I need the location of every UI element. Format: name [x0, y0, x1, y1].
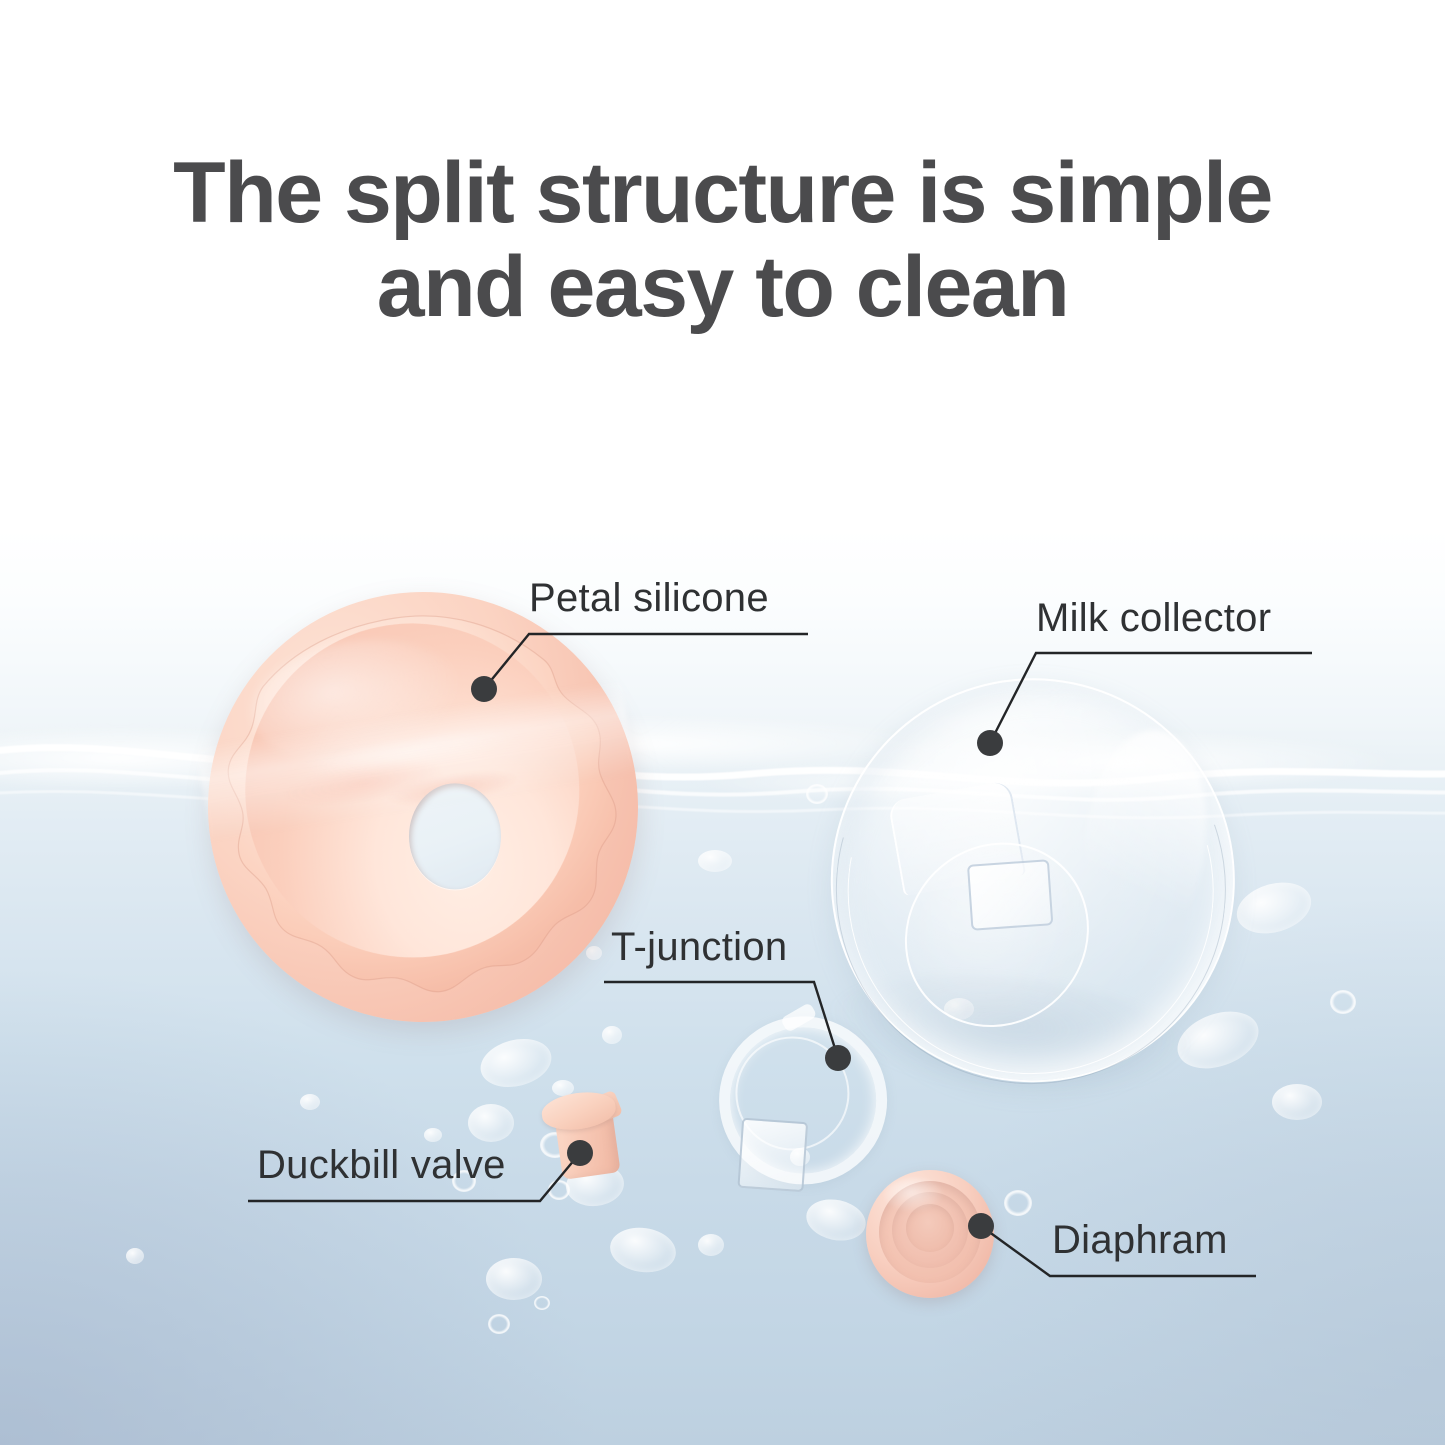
diaphram-leader: [0, 0, 1445, 1445]
callout-diaphram: Diaphram: [0, 0, 1445, 1445]
diaphram-dot: [968, 1213, 994, 1239]
infographic-canvas: The split structure is simple and easy t…: [0, 0, 1445, 1445]
callout-label-diaphram: Diaphram: [1052, 1218, 1228, 1263]
